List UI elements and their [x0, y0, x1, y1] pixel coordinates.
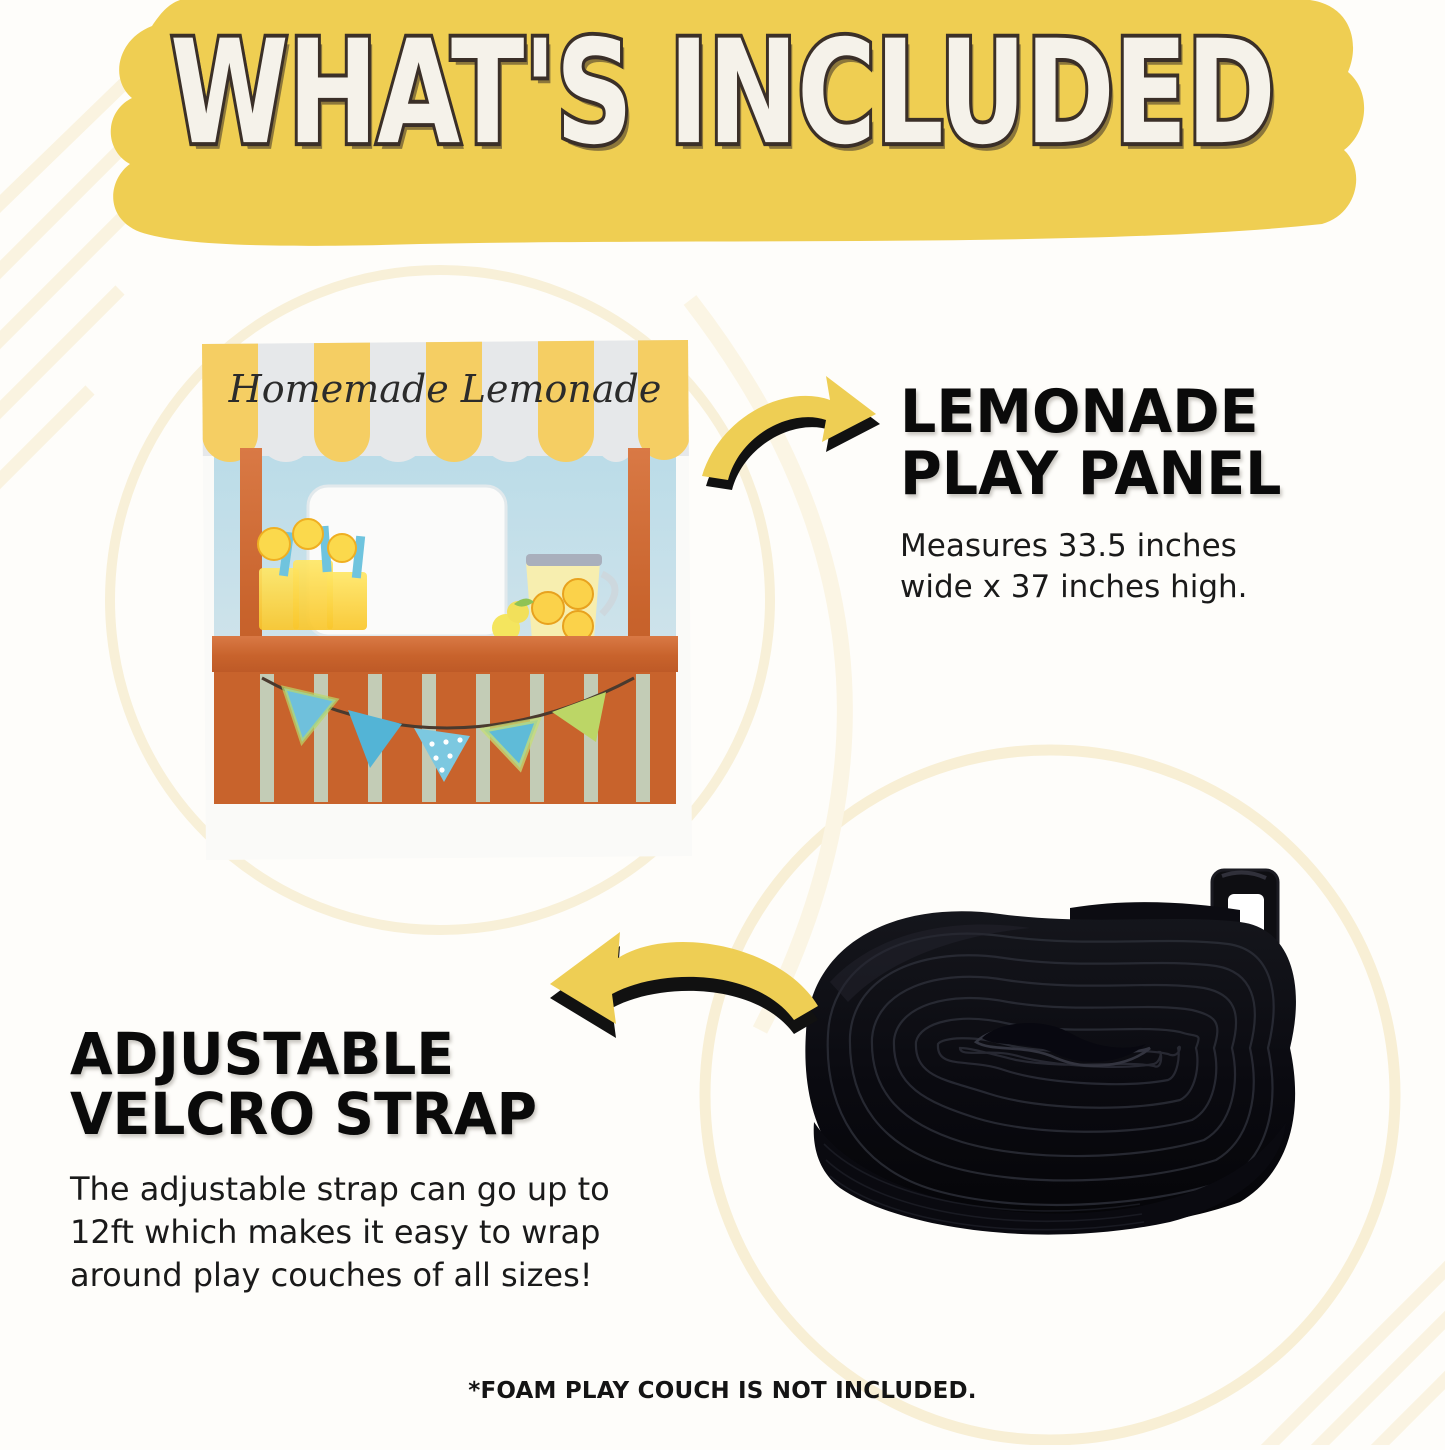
arrow-curved-right-icon [700, 372, 900, 497]
counter-top [212, 636, 678, 672]
panel-sign-text: Homemade Lemonade [228, 367, 662, 411]
velcro-strap-title: ADJUSTABLE VELCRO STRAP [70, 1025, 621, 1144]
velcro-strap-callout: ADJUSTABLE VELCRO STRAP The adjustable s… [70, 1025, 650, 1297]
lemonade-play-panel-description: Measures 33.5 inches wide x 37 inches hi… [900, 526, 1360, 609]
header-banner: WHAT'S INCLUDED [0, 0, 1445, 260]
footer-disclaimer: *FOAM PLAY COUCH IS NOT INCLUDED. [0, 1378, 1445, 1404]
lemonade-play-panel-callout: LEMONADE PLAY PANEL Measures 33.5 inches… [900, 382, 1360, 609]
lemonade-play-panel-title: LEMONADE PLAY PANEL [900, 382, 1337, 506]
velcro-strap-description: The adjustable strap can go up to 12ft w… [70, 1168, 650, 1297]
lemonade-play-panel-photo: Homemade Lemonade [196, 336, 694, 866]
velcro-strap-photo [770, 862, 1330, 1282]
page-title: WHAT'S INCLUDED [116, 22, 1330, 165]
